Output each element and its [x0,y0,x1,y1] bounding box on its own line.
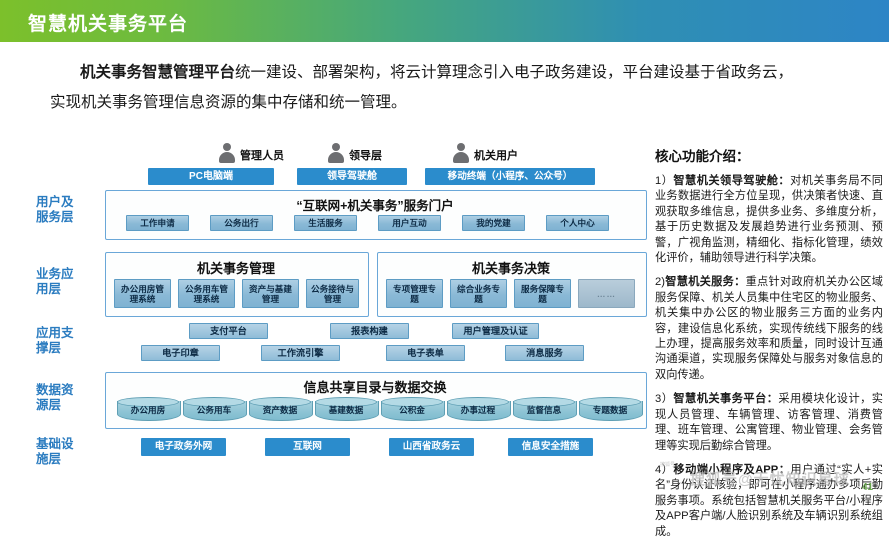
intro-line2: 实现机关事务管理信息资源的集中存储和统一管理。 [50,94,407,111]
person-icon [328,143,344,163]
data-cylinder-label: 专题数据 [579,404,641,416]
portal-item-my-party-building[interactable]: 我的党建 [462,215,525,231]
layer-label-user-service: 用户及服务层 [36,195,96,225]
infra-item-shanxi-gov-cloud[interactable]: 山西省政务云 [389,438,474,456]
watermark-tiny: 搜狐号 [660,461,675,468]
item-body: 对机关事务局不同业务数据进行全方位呈现，供决策者快速、直观获取多维信息，提供多业… [655,175,883,264]
actor-label-leader: 领导层 [349,147,382,163]
infra-item-egov-extranet[interactable]: 电子政务外网 [141,438,226,456]
core-function-item: 1）智慧机关领导驾驶舱：对机关事务局不同业务数据进行全方位呈现，供决策者快速、直… [655,174,883,266]
data-layer-title: 信息共享目录与数据交换 [105,377,645,396]
architecture-diagram: 用户及服务层 业务应用层 应用支撑层 数据资源层 基础设施层 管理人员 PC电脑… [0,140,655,485]
data-cylinder-label: 办事过程 [447,404,509,416]
watermark: 搜狐号@无忧知识星球 [690,468,850,489]
data-cylinder-label: 资产数据 [249,404,311,416]
portal-item-user-interaction[interactable]: 用户互动 [378,215,441,231]
support-item-message-service[interactable]: 消息服务 [505,345,584,361]
page-number: 41 [862,482,873,493]
actor-label-agency-user: 机关用户 [474,147,518,163]
support-item-electronic-seal[interactable]: 电子印章 [141,345,220,361]
business-item-official-vehicle[interactable]: 公务用车管理系统 [178,279,235,308]
core-function-item: 3）智慧机关事务平台：采用模块化设计，实现人员管理、车辆管理、访客管理、消费管理… [655,392,883,454]
data-cylinder-construction-data[interactable]: 基建数据 [315,397,377,423]
business-group-title-decision: 机关事务决策 [377,258,645,277]
item-name: 智慧机关事务平台： [673,393,778,405]
support-item-electronic-form[interactable]: 电子表单 [386,345,465,361]
support-item-report-builder[interactable]: 报表构建 [330,323,409,339]
business-item-asset-construction[interactable]: 资产与基建管理 [242,279,299,308]
data-cylinder-process[interactable]: 办事过程 [447,397,509,423]
person-icon [453,143,469,163]
decision-item-more[interactable]: …… [578,279,635,308]
data-cylinder-office-housing[interactable]: 办公用房 [117,397,179,423]
data-cylinder-label: 办公用房 [117,404,179,416]
support-item-workflow-engine[interactable]: 工作流引擎 [261,345,340,361]
data-cylinder-thematic-data[interactable]: 专题数据 [579,397,641,423]
intro-bold-lead: 机关事务智慧管理平台 [80,64,235,81]
page-header: 智慧机关事务平台 [0,0,889,42]
decision-item-comprehensive-business[interactable]: 综合业务专题 [450,279,507,308]
item-number: 2) [655,276,665,288]
actor-button-mobile[interactable]: 移动终端（小程序、公众号） [425,168,595,185]
actor-button-cockpit[interactable]: 领导驾驶舱 [297,168,407,185]
business-item-official-reception[interactable]: 公务接待与管理 [306,279,359,308]
data-cylinder-label: 公积金 [381,404,443,416]
decision-item-special-management[interactable]: 专项管理专题 [386,279,443,308]
data-cylinder-asset-data[interactable]: 资产数据 [249,397,311,423]
item-body: 重点针对政府机关办公区域服务保障、机关人员集中住宅区的物业服务、机关集中办公区的… [655,276,883,380]
actor-button-pc[interactable]: PC电脑端 [148,168,274,185]
layer-label-app-support: 应用支撑层 [36,326,96,356]
data-cylinder-housing-fund[interactable]: 公积金 [381,397,443,423]
decision-item-service-guarantee[interactable]: 服务保障专题 [514,279,571,308]
data-cylinder-official-vehicle[interactable]: 公务用车 [183,397,245,423]
business-item-office-housing[interactable]: 办公用房管理系统 [114,279,171,308]
data-cylinder-supervision-info[interactable]: 监督信息 [513,397,575,423]
intro-paragraph: 机关事务智慧管理平台统一建设、部署架构，将云计算理念引入电子政务建设，平台建设基… [50,58,850,118]
intro-line1: 统一建设、部署架构，将云计算理念引入电子政务建设，平台建设基于省政务云， [235,64,793,81]
data-cylinder-label: 监督信息 [513,404,575,416]
item-name: 智慧机关服务： [665,276,746,288]
core-functions-title: 核心功能介绍： [655,145,883,165]
data-cylinder-label: 公务用车 [183,404,245,416]
item-name: 智慧机关领导驾驶舱： [673,175,790,187]
layer-label-data-resource: 数据资源层 [36,383,96,413]
layer-label-infrastructure: 基础设施层 [36,437,96,467]
data-cylinder-label: 基建数据 [315,404,377,416]
business-group-title-management: 机关事务管理 [105,258,367,277]
person-icon [219,143,235,163]
core-function-item: 2)智慧机关服务：重点针对政府机关办公区域服务保障、机关人员集中住宅区的物业服务… [655,275,883,383]
portal-item-personal-center[interactable]: 个人中心 [546,215,609,231]
portal-item-official-travel[interactable]: 公务出行 [210,215,273,231]
portal-item-work-application[interactable]: 工作申请 [126,215,189,231]
item-number: 1） [655,175,673,187]
infra-item-security-measures[interactable]: 信息安全措施 [508,438,593,456]
page-title: 智慧机关事务平台 [28,9,188,36]
layer-label-business-app: 业务应用层 [36,267,96,297]
support-item-payment-platform[interactable]: 支付平台 [189,323,268,339]
infra-item-internet[interactable]: 互联网 [265,438,350,456]
actor-label-admin: 管理人员 [240,147,284,163]
portal-item-life-service[interactable]: 生活服务 [294,215,357,231]
support-item-user-management-auth[interactable]: 用户管理及认证 [452,323,539,339]
item-number: 3） [655,393,673,405]
portal-title: “互联网+机关事务”服务门户 [105,195,645,214]
